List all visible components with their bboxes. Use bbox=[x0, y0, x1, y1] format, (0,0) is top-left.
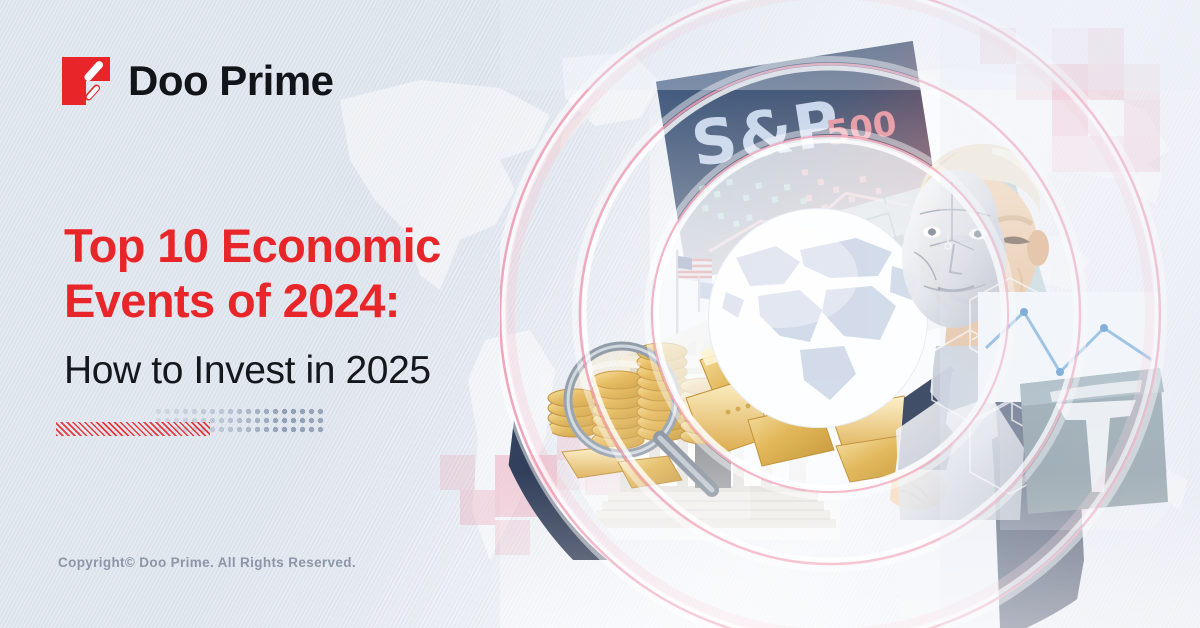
brand-name: Doo Prime bbox=[128, 57, 334, 104]
hatch-bar-decoration bbox=[56, 422, 210, 436]
brand-logo[interactable]: Doo Prime bbox=[60, 55, 334, 107]
divider bbox=[56, 405, 324, 441]
headline-line-2: Events of 2024: bbox=[64, 273, 534, 328]
doo-prime-flag-mark bbox=[60, 55, 112, 107]
banner-root: S&P 500 bbox=[0, 0, 1200, 628]
page-subtitle: How to Invest in 2025 bbox=[64, 348, 431, 395]
headline-line-1: Top 10 Economic bbox=[64, 218, 534, 273]
copyright-text: Copyright© Doo Prime. All Rights Reserve… bbox=[58, 555, 356, 570]
page-title: Top 10 Economic Events of 2024: bbox=[64, 218, 534, 329]
photo-collage: S&P 500 bbox=[500, 0, 1200, 628]
